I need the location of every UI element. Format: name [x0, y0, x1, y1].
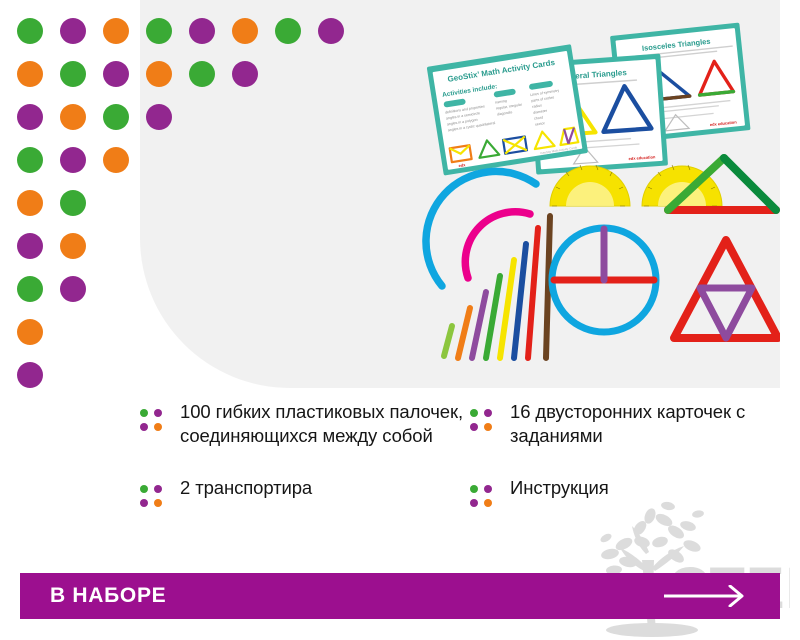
- feature-text: Инструкция: [510, 476, 609, 500]
- bullet-dot-purple: [154, 485, 162, 493]
- grid-dot-green: [17, 18, 43, 44]
- feature-column-right: 16 двусторонних карточек с заданиями Инс…: [470, 400, 800, 535]
- grid-dot-green: [103, 104, 129, 130]
- bullet-dot-purple: [484, 409, 492, 417]
- bullet-dot-purple: [470, 499, 478, 507]
- feature-item: 2 транспортира: [140, 476, 470, 507]
- feature-text: 100 гибких пластиковых палочек, соединяю…: [180, 400, 470, 448]
- feature-text: 16 двусторонних карточек с заданиями: [510, 400, 800, 448]
- bullet-dot-orange: [484, 499, 492, 507]
- grid-dot-green: [60, 61, 86, 87]
- grid-dot-green: [17, 276, 43, 302]
- grid-dot-purple: [232, 61, 258, 87]
- grid-dot-orange: [146, 61, 172, 87]
- grid-dot-orange: [103, 18, 129, 44]
- grid-dot-purple: [318, 18, 344, 44]
- grid-dot-green: [60, 190, 86, 216]
- grid-dot-orange: [17, 319, 43, 345]
- grid-dot-green: [17, 147, 43, 173]
- grid-dot-purple: [17, 362, 43, 388]
- feature-item: 100 гибких пластиковых палочек, соединяю…: [140, 400, 470, 448]
- grid-dot-purple: [17, 233, 43, 259]
- grid-dot-purple: [17, 104, 43, 130]
- grid-dot-orange: [232, 18, 258, 44]
- bullet-dot-purple: [470, 423, 478, 431]
- grid-dot-orange: [17, 190, 43, 216]
- bullet-dot-green: [470, 485, 478, 493]
- grid-dot-purple: [146, 104, 172, 130]
- footer-label: В НАБОРЕ: [50, 584, 166, 608]
- grid-dot-orange: [103, 147, 129, 173]
- grid-dot-green: [189, 61, 215, 87]
- grid-dot-purple: [60, 18, 86, 44]
- bullet-cluster-icon: [140, 485, 164, 507]
- bullet-cluster-icon: [470, 409, 494, 431]
- grid-dot-green: [275, 18, 301, 44]
- feature-column-left: 100 гибких пластиковых палочек, соединяю…: [140, 400, 470, 535]
- product-photo: Isosceles Triangles edx education Equila…: [420, 20, 780, 380]
- footer-bar[interactable]: В НАБОРЕ: [20, 573, 780, 619]
- bullet-dot-green: [470, 409, 478, 417]
- grid-dot-purple: [60, 147, 86, 173]
- feature-item: 16 двусторонних карточек с заданиями: [470, 400, 800, 448]
- grid-dot-purple: [103, 61, 129, 87]
- bullet-dot-purple: [154, 409, 162, 417]
- bullet-dot-orange: [154, 499, 162, 507]
- grid-dot-purple: [60, 276, 86, 302]
- grid-dot-orange: [60, 233, 86, 259]
- grid-dot-green: [146, 18, 172, 44]
- grid-dot-orange: [60, 104, 86, 130]
- bullet-cluster-icon: [470, 485, 494, 507]
- bullet-dot-orange: [484, 423, 492, 431]
- bullet-dot-orange: [154, 423, 162, 431]
- grid-dot-purple: [189, 18, 215, 44]
- feature-item: Инструкция: [470, 476, 800, 507]
- bullet-dot-purple: [484, 485, 492, 493]
- bullet-dot-purple: [140, 499, 148, 507]
- bullet-dot-green: [140, 485, 148, 493]
- feature-list: 100 гибких пластиковых палочек, соединяю…: [0, 400, 800, 560]
- bullet-dot-green: [140, 409, 148, 417]
- bullet-cluster-icon: [140, 409, 164, 431]
- arrow-right-icon[interactable]: [662, 585, 752, 607]
- decorative-dot-grid: [0, 0, 360, 400]
- grid-dot-orange: [17, 61, 43, 87]
- feature-text: 2 транспортира: [180, 476, 312, 500]
- bullet-dot-purple: [140, 423, 148, 431]
